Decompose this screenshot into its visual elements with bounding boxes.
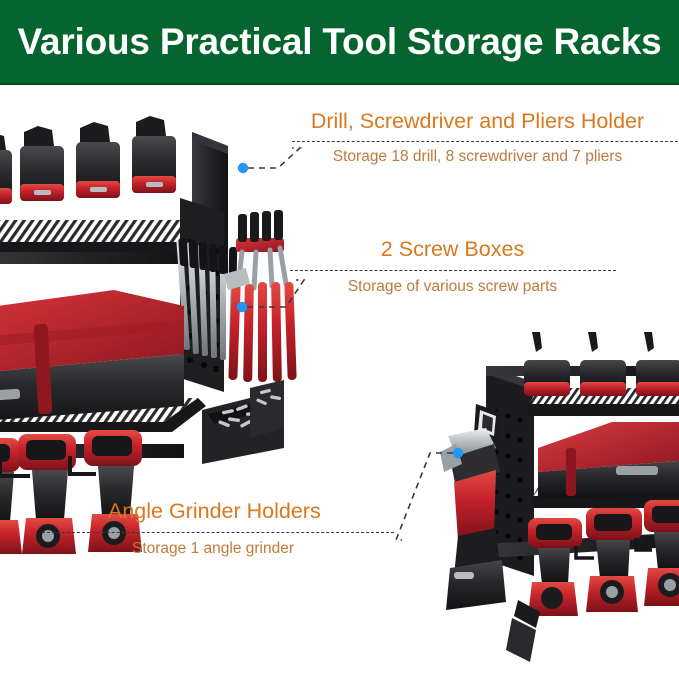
callout-drill-screwdriver-pliers-holder: Drill, Screwdriver and Pliers Holder Sto… bbox=[280, 110, 679, 165]
battery-pack-group-right bbox=[524, 332, 679, 396]
red-tool-case-right bbox=[538, 422, 679, 498]
page-title: Various Practical Tool Storage Racks bbox=[18, 23, 662, 60]
cordless-drill bbox=[586, 508, 642, 612]
battery-pack-group-left bbox=[0, 116, 176, 204]
product-image-left-rack bbox=[0, 92, 284, 470]
callout-divider bbox=[290, 270, 616, 271]
callout-subtitle: Storage of various screw parts bbox=[290, 278, 679, 295]
screw-box-group bbox=[202, 380, 284, 464]
battery-pack bbox=[20, 126, 64, 201]
callout-title: Drill, Screwdriver and Pliers Holder bbox=[280, 110, 679, 134]
callout-subtitle: Storage 1 angle grinder bbox=[42, 540, 462, 557]
battery-pack bbox=[580, 332, 626, 396]
callout-title: Angle Grinder Holders bbox=[42, 500, 462, 524]
pliers-set bbox=[224, 210, 297, 382]
callout-title: 2 Screw Boxes bbox=[290, 238, 679, 262]
cordless-drill bbox=[644, 500, 679, 606]
header-banner: Various Practical Tool Storage Racks bbox=[0, 0, 679, 85]
battery-pack bbox=[636, 332, 679, 396]
callout-subtitle: Storage 18 drill, 8 screwdriver and 7 pl… bbox=[280, 148, 679, 165]
battery-pack bbox=[132, 116, 176, 193]
battery-pack bbox=[0, 132, 12, 204]
cordless-drill-group-right bbox=[506, 494, 679, 662]
battery-pack bbox=[524, 332, 570, 396]
product-image-right-rack bbox=[440, 332, 679, 684]
callout-divider bbox=[292, 141, 678, 142]
screw-box bbox=[250, 380, 284, 438]
callout-angle-grinder-holders: Angle Grinder Holders Storage 1 angle gr… bbox=[42, 500, 462, 557]
red-tool-case-left bbox=[0, 290, 184, 422]
callout-screw-boxes: 2 Screw Boxes Storage of various screw p… bbox=[290, 238, 679, 295]
infographic-canvas: Various Practical Tool Storage Racks bbox=[0, 0, 679, 679]
callout-divider bbox=[42, 532, 394, 533]
battery-pack bbox=[76, 122, 120, 198]
